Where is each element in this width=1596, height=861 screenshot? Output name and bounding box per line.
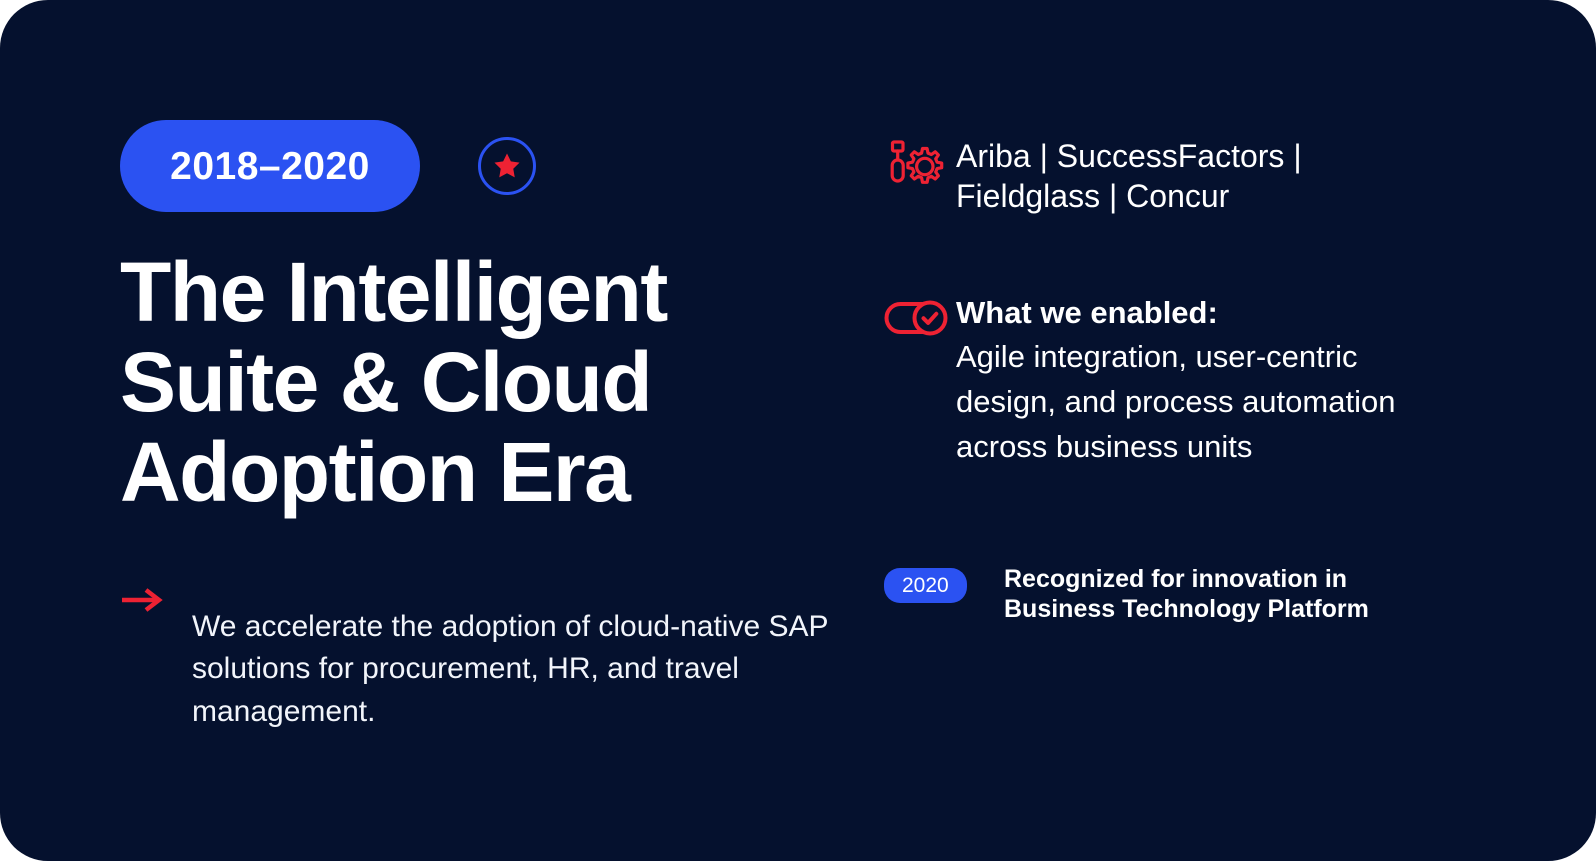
screwdriver-gear-icon	[884, 136, 956, 201]
products-body: Ariba | SuccessFactors | Fieldglass | Co…	[956, 136, 1504, 216]
enabled-heading: What we enabled:	[956, 294, 1504, 331]
star-badge[interactable]	[478, 137, 536, 195]
star-icon	[491, 150, 523, 182]
products-block: Ariba | SuccessFactors | Fieldglass | Co…	[884, 136, 1504, 216]
products-text: Ariba | SuccessFactors | Fieldglass | Co…	[956, 136, 1436, 216]
arrow-right-icon	[120, 586, 164, 619]
award-year-badge[interactable]: 2020	[884, 568, 967, 603]
page-title: The Intelligent Suite & Cloud Adoption E…	[120, 248, 820, 518]
era-badge-label: 2018–2020	[170, 147, 370, 186]
award-text: Recognized for innovation in Business Te…	[1004, 562, 1434, 624]
headline-line-3: Adoption Era	[120, 428, 820, 518]
enabled-text: Agile integration, user-centric design, …	[956, 335, 1426, 470]
summary-text: We accelerate the adoption of cloud-nati…	[192, 606, 832, 734]
era-badge[interactable]: 2018–2020	[120, 120, 420, 212]
headline-line-1: The Intelligent	[120, 248, 820, 338]
award-year-wrap: 2020	[884, 562, 1004, 603]
era-header-row: 2018–2020	[120, 120, 840, 212]
enabled-body: What we enabled: Agile integration, user…	[956, 294, 1504, 470]
left-column: 2018–2020 The Intelligent Suite & Cloud …	[120, 120, 840, 763]
enabled-block: What we enabled: Agile integration, user…	[884, 294, 1504, 470]
toggle-check-icon	[884, 294, 956, 341]
summary-row: We accelerate the adoption of cloud-nati…	[120, 576, 840, 764]
award-block: 2020 Recognized for innovation in Busine…	[884, 562, 1504, 624]
headline-line-2: Suite & Cloud	[120, 338, 820, 428]
timeline-era-card: 2018–2020 The Intelligent Suite & Cloud …	[0, 0, 1596, 861]
right-column: Ariba | SuccessFactors | Fieldglass | Co…	[884, 136, 1504, 624]
